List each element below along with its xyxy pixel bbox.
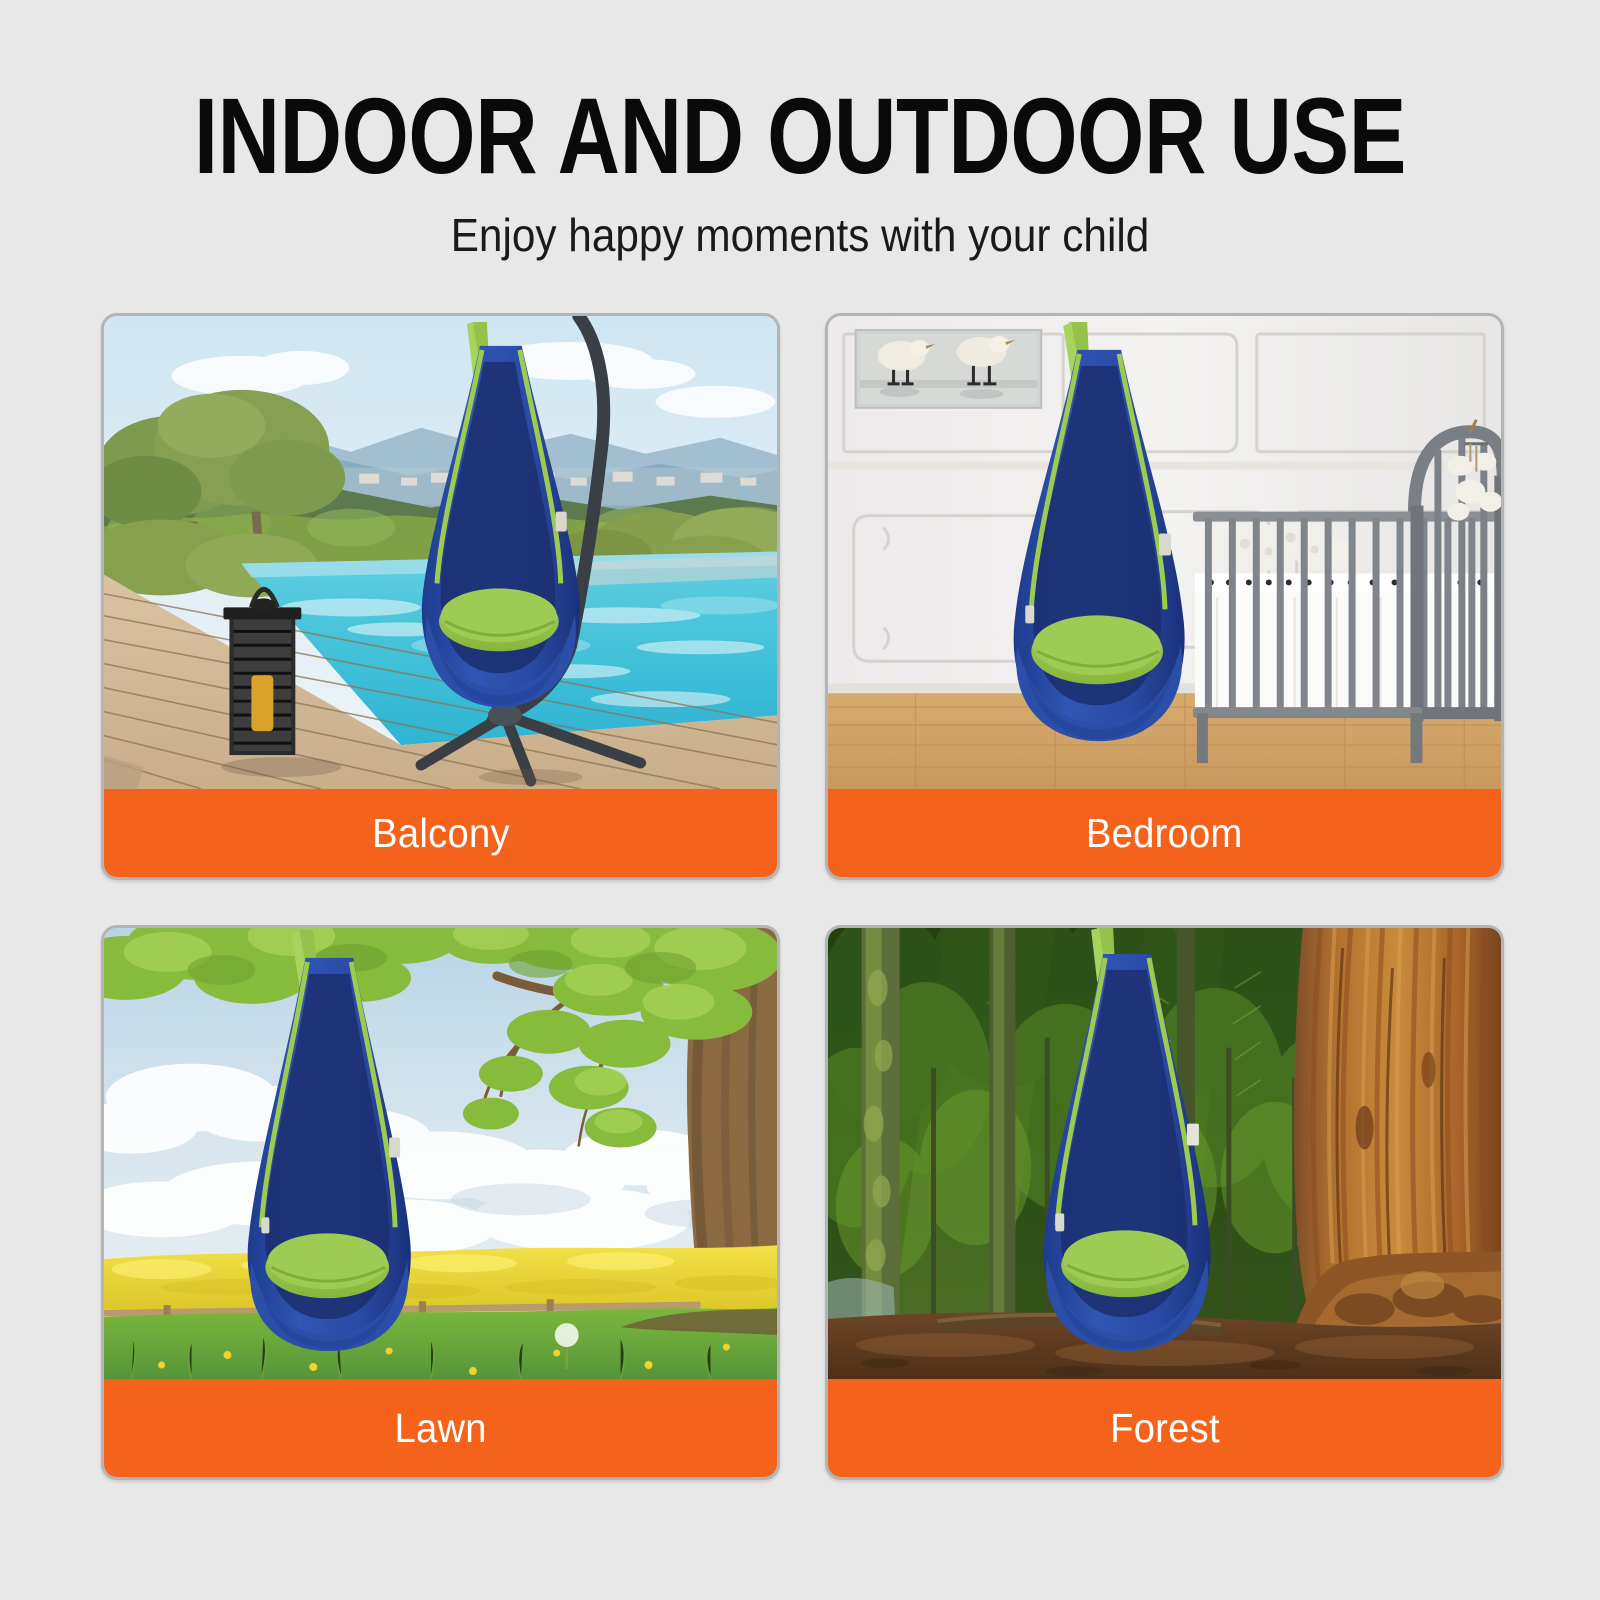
lawn-illustration [104, 928, 777, 1379]
scene-card-forest[interactable]: Forest [825, 925, 1504, 1480]
scene-photo-forest [828, 928, 1501, 1379]
bedroom-illustration [828, 316, 1501, 789]
scene-grid: Balcony [101, 313, 1512, 1480]
scene-caption-lawn: Lawn [104, 1379, 777, 1477]
header: INDOOR AND OUTDOOR USE Enjoy happy momen… [0, 0, 1600, 260]
scene-caption-label: Bedroom [1086, 810, 1243, 857]
balcony-illustration [104, 316, 777, 789]
product-feature-page: INDOOR AND OUTDOOR USE Enjoy happy momen… [0, 0, 1600, 1600]
scene-caption-bedroom: Bedroom [828, 789, 1501, 877]
scene-caption-label: Forest [1110, 1405, 1220, 1452]
scene-card-bedroom[interactable]: Bedroom [825, 313, 1504, 880]
page-subtitle: Enjoy happy moments with your child [64, 185, 1536, 259]
scene-card-lawn[interactable]: Lawn [101, 925, 780, 1480]
scene-photo-lawn [104, 928, 777, 1379]
scene-caption-balcony: Balcony [104, 789, 777, 877]
scene-card-balcony[interactable]: Balcony [101, 313, 780, 880]
forest-illustration [828, 928, 1501, 1379]
scene-caption-label: Lawn [394, 1405, 486, 1452]
scene-caption-label: Balcony [372, 810, 510, 857]
scene-caption-forest: Forest [828, 1379, 1501, 1477]
scene-photo-balcony [104, 316, 777, 789]
scene-photo-bedroom [828, 316, 1501, 789]
page-title: INDOOR AND OUTDOOR USE [160, 0, 1440, 185]
